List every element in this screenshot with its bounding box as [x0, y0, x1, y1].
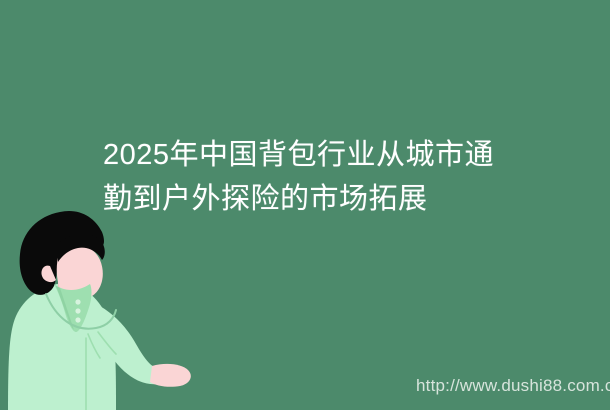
- hand-shape: [150, 364, 191, 387]
- cover-title: 2025年中国背包行业从城市通勤到户外探险的市场拓展: [103, 133, 503, 221]
- collar-button-2: [75, 308, 80, 313]
- hoodie-body-group: [8, 284, 191, 410]
- site-url-watermark: http://www.dushi88.com.cn: [416, 376, 610, 396]
- cover-image: 2025年中国背包行业从城市通勤到户外探险的市场拓展 http://www.du…: [0, 0, 610, 410]
- person-illustration: [0, 198, 210, 410]
- hoodie-body-shape: [8, 284, 116, 410]
- collar-button-3: [75, 317, 80, 322]
- collar-button-1: [75, 299, 80, 304]
